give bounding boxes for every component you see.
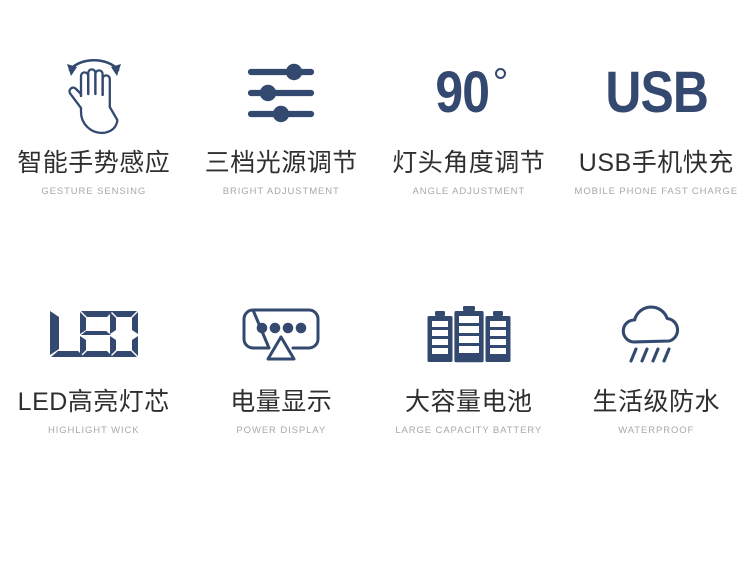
usb-text: USB: [605, 64, 708, 122]
feature-label-cn: 智能手势感应: [17, 151, 170, 176]
degree-symbol-icon: [495, 68, 506, 79]
feature-label-cn: LED高亮灯芯: [18, 390, 170, 415]
feature-label-cn: 电量显示: [230, 390, 332, 415]
feature-label-en: HIGHLIGHT WICK: [48, 426, 140, 436]
feature-card-angle-adjustment[interactable]: 90 灯头角度调节 ANGLE ADJUSTMENT: [375, 0, 563, 240]
feature-label-en: LARGE CAPACITY BATTERY: [395, 426, 542, 436]
feature-card-power-display[interactable]: 电量显示 POWER DISPLAY: [188, 290, 376, 480]
feature-label-cn: 灯头角度调节: [392, 151, 545, 176]
feature-label-cn: 生活级防水: [592, 390, 720, 415]
ninety-degree-value: 90: [436, 64, 490, 122]
icon-container: [616, 290, 696, 380]
icon-container: [241, 290, 321, 380]
triple-battery-icon: [427, 306, 511, 364]
feature-card-large-capacity-battery[interactable]: 大容量电池 LARGE CAPACITY BATTERY: [375, 290, 563, 480]
icon-container: [48, 290, 140, 380]
icon-container: 90: [431, 45, 506, 141]
feature-card-waterproof[interactable]: 生活级防水 WATERPROOF: [563, 290, 750, 480]
led-segment-icon: [48, 309, 140, 361]
feature-card-highlight-wick[interactable]: LED高亮灯芯 HIGHLIGHT WICK: [0, 290, 188, 480]
feature-label-en: BRIGHT ADJUSTMENT: [223, 187, 340, 197]
feature-label-cn: 三档光源调节: [205, 151, 358, 176]
feature-label-en: ANGLE ADJUSTMENT: [412, 187, 525, 197]
feature-label-en: GESTURE SENSING: [41, 187, 146, 197]
features-row-2: LED高亮灯芯 HIGHLIGHT WICK: [0, 290, 750, 480]
rain-cloud-icon: [616, 305, 696, 365]
sliders-icon: [246, 62, 316, 124]
features-row-1: 智能手势感应 GESTURE SENSING: [0, 0, 750, 240]
feature-label-en: POWER DISPLAY: [236, 426, 326, 436]
feature-card-gesture-sensing[interactable]: 智能手势感应 GESTURE SENSING: [0, 0, 188, 240]
feature-label-en: WATERPROOF: [618, 426, 694, 436]
feature-card-fast-charge[interactable]: USB USB手机快充 MOBILE PHONE FAST CHARGE: [563, 0, 750, 240]
feature-label-cn: USB手机快充: [579, 151, 734, 176]
ninety-degree-icon: 90: [431, 64, 506, 122]
usb-icon: USB: [597, 64, 716, 122]
icon-container: [246, 45, 316, 141]
icon-container: USB: [597, 45, 716, 141]
battery-level-display-icon: [241, 307, 321, 363]
feature-label-en: MOBILE PHONE FAST CHARGE: [575, 187, 738, 197]
icon-container: [427, 290, 511, 380]
hand-gesture-icon: [58, 50, 130, 136]
icon-container: [58, 45, 130, 141]
feature-card-bright-adjustment[interactable]: 三档光源调节 BRIGHT ADJUSTMENT: [188, 0, 376, 240]
feature-grid: 智能手势感应 GESTURE SENSING: [0, 0, 750, 480]
feature-label-cn: 大容量电池: [405, 390, 533, 415]
